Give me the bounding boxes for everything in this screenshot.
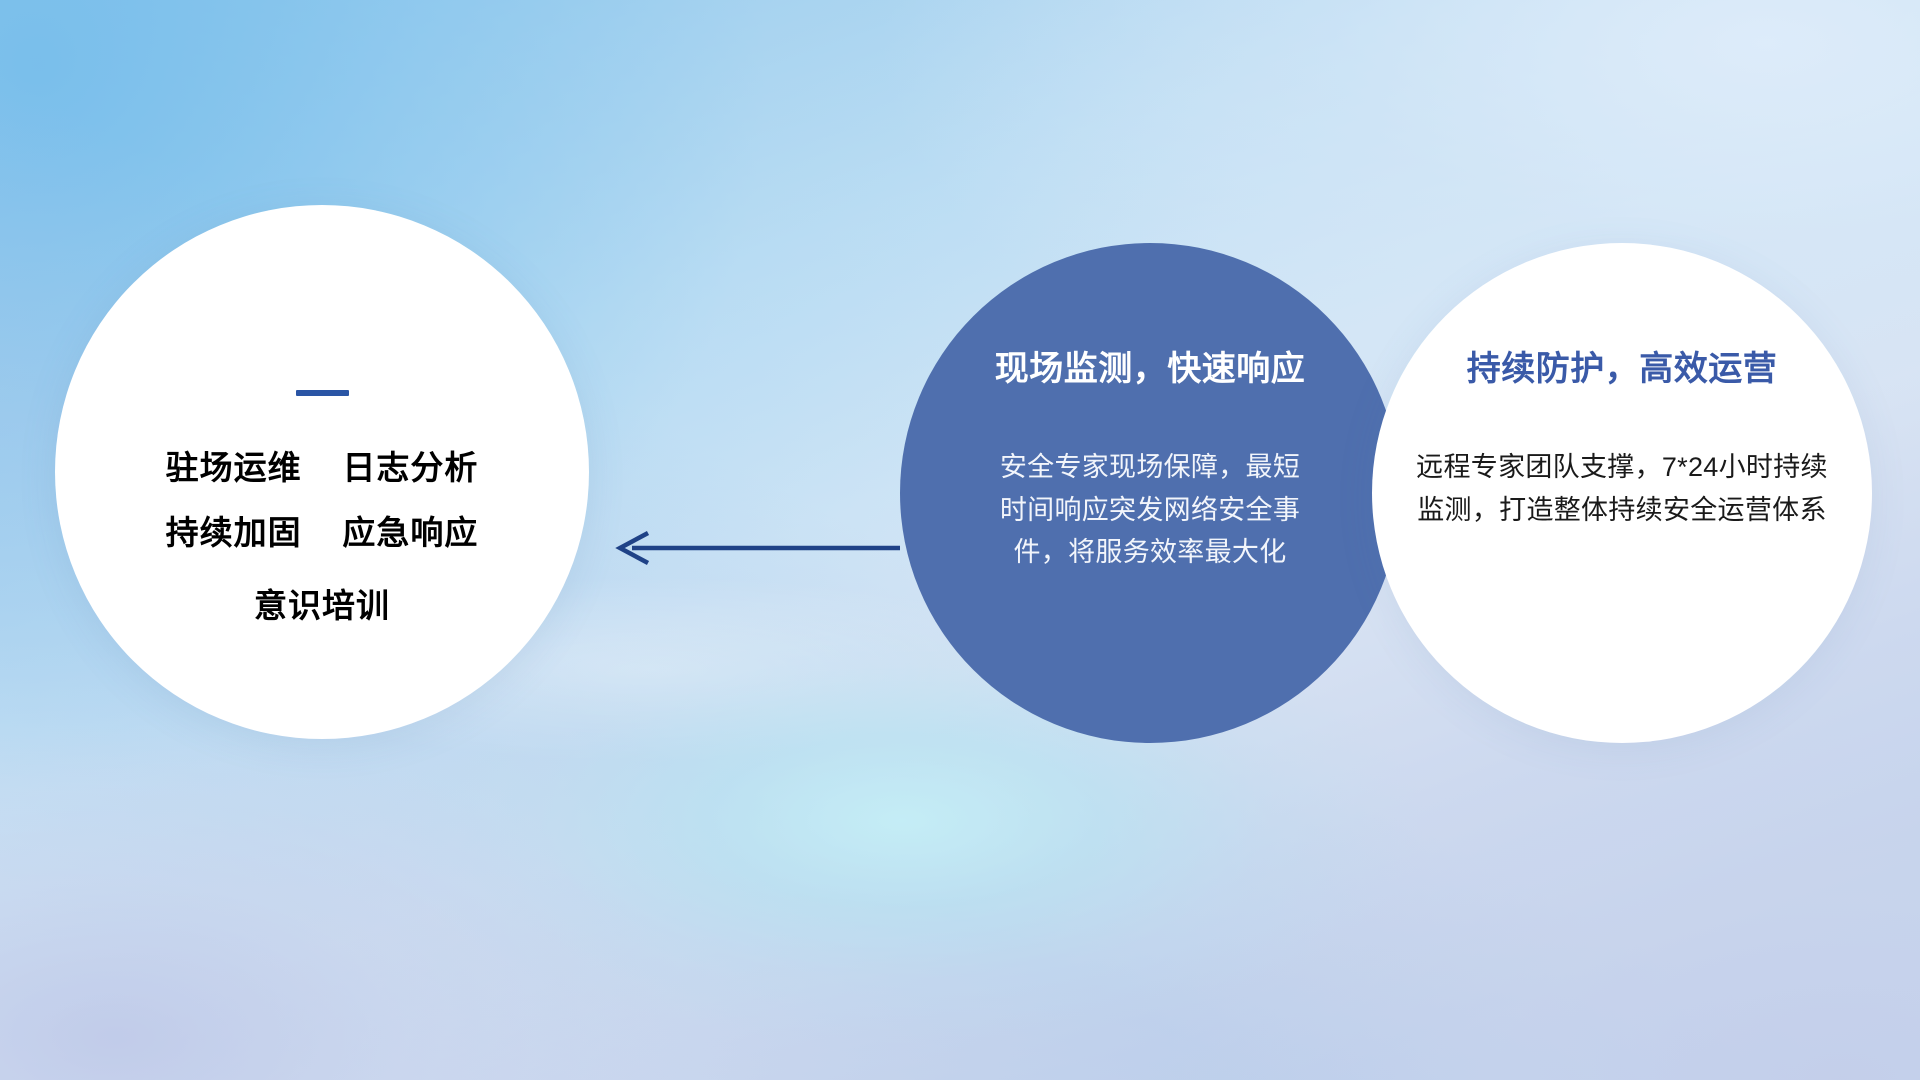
right-circle-title: 持续防护，高效运营	[1467, 341, 1778, 390]
left-keyword-row-1: 驻场运维 日志分析	[166, 451, 479, 484]
slide-canvas: 驻场运维 日志分析 持续加固 应急响应 意识培训 现场监测，快速响应 安全专家现…	[0, 0, 1920, 1080]
right-circle-content: 持续防护，高效运营 远程专家团队支撑，7*24小时持续监测，打造整体持续安全运营…	[1372, 243, 1872, 743]
horizontal-dash-icon	[296, 390, 349, 396]
middle-circle-body: 安全专家现场保障，最短时间响应突发网络安全事件，将服务效率最大化	[990, 446, 1310, 574]
middle-circle-content: 现场监测，快速响应 安全专家现场保障，最短时间响应突发网络安全事件，将服务效率最…	[900, 243, 1400, 743]
left-circle-content: 驻场运维 日志分析 持续加固 应急响应 意识培训	[55, 205, 589, 739]
right-circle-body: 远程专家团队支撑，7*24小时持续监测，打造整体持续安全运营体系	[1407, 446, 1837, 531]
left-keyword-row-3: 意识培训	[254, 589, 390, 622]
arrow-left-icon	[600, 520, 900, 576]
middle-circle-title: 现场监测，快速响应	[995, 341, 1306, 390]
left-keyword-list: 驻场运维 日志分析 持续加固 应急响应 意识培训	[166, 451, 479, 622]
arrow-left-connector	[600, 520, 900, 576]
left-keyword-row-2: 持续加固 应急响应	[166, 516, 479, 549]
